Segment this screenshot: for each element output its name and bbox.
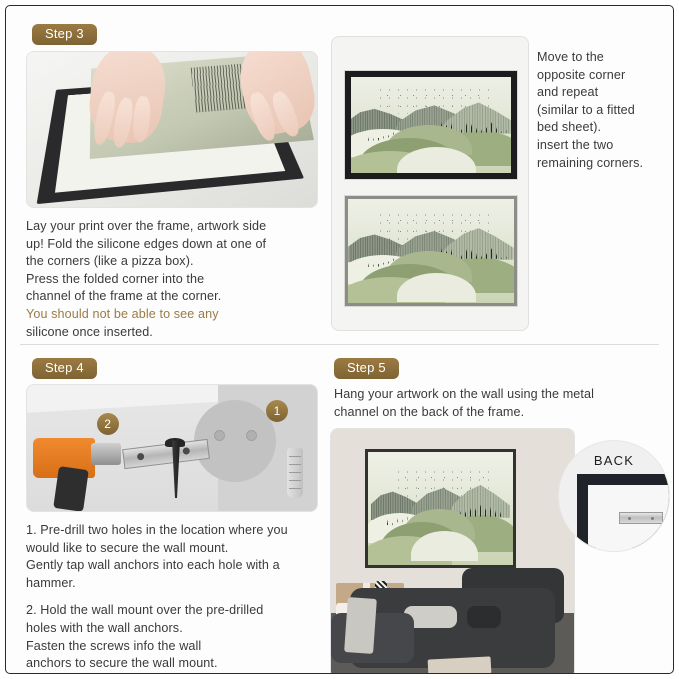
metal-channel-bracket xyxy=(619,512,663,524)
step-4-first-line-3: Gently tap wall anchors into each hole w… xyxy=(26,557,316,575)
frame-edge-draped xyxy=(345,71,517,179)
power-drill-grip xyxy=(53,466,89,512)
step-4-second-line-2: holes with the wall anchors. xyxy=(26,620,316,638)
step-5-line-1: Hang your artwork on the wall using the … xyxy=(334,386,654,404)
side-line-5: bed sheet). xyxy=(537,119,667,137)
step-3-badge-wrapper: Step 3 xyxy=(32,24,97,45)
sofa-pillow-dark xyxy=(467,606,501,628)
anchor-rib xyxy=(289,472,301,473)
step-3-highlight-line-2: silicone once inserted. xyxy=(26,324,326,342)
step-3-line-3: the corners (like a pizza box). xyxy=(26,253,326,271)
step-4-text-block: 1. Pre-drill two holes in the location w… xyxy=(26,522,316,673)
paragraph-gap xyxy=(26,592,316,602)
step-3-photo xyxy=(26,51,318,208)
step-3-text-block: Lay your print over the frame, artwork s… xyxy=(26,218,326,341)
bracket-hole xyxy=(182,447,190,455)
step-5-badge: Step 5 xyxy=(334,358,399,379)
hung-artwork xyxy=(365,449,516,569)
step-4-badge-wrapper: Step 4 xyxy=(32,358,97,379)
finger xyxy=(132,96,152,143)
channel-rivet xyxy=(628,517,631,520)
side-line-6: insert the two xyxy=(537,137,667,155)
anchor-rib xyxy=(289,464,301,465)
step-4-badge: Step 4 xyxy=(32,358,97,379)
callout-badge-1: 1 xyxy=(266,400,288,422)
landscape-artwork xyxy=(368,452,513,566)
step-3-line-1: Lay your print over the frame, artwork s… xyxy=(26,218,326,236)
step-5-section: Step 5 Hang your artwork on the wall usi… xyxy=(326,344,674,674)
channel-rivet xyxy=(651,517,654,520)
instruction-sheet: Step 3 Lay your print over the frame xyxy=(5,5,674,674)
side-line-3: and repeat xyxy=(537,84,667,102)
side-line-4: (similar to a fitted xyxy=(537,102,667,120)
step-3-side-text-block: Move to the opposite corner and repeat (… xyxy=(537,49,667,172)
frame-back-outer-edge xyxy=(577,474,669,548)
back-label: BACK xyxy=(559,453,669,468)
frame-edge-installed xyxy=(345,196,517,306)
artwork-draped-photo xyxy=(344,70,518,180)
side-line-7: remaining corners. xyxy=(537,155,667,173)
callout-badge-2: 2 xyxy=(97,413,119,435)
step-3-line-4: Press the folded corner into the xyxy=(26,271,326,289)
artwork-installed-photo xyxy=(344,195,518,307)
step-3-line-5: channel of the frame at the corner. xyxy=(26,288,326,306)
step-5-photo xyxy=(330,428,575,674)
step-4-first-line-4: hammer. xyxy=(26,575,316,593)
anchor-rib xyxy=(289,488,301,489)
step-4-photo: 1 2 xyxy=(26,384,318,512)
artwork-comparison-panel xyxy=(331,36,529,331)
step-4-second-line-4: anchors to secure the wall mount. xyxy=(26,655,316,673)
drilled-hole-right xyxy=(246,430,257,441)
drilled-hole-left xyxy=(214,430,225,441)
throw-blanket xyxy=(344,597,377,654)
step-4-first-line-2: would like to secure the wall mount. xyxy=(26,540,316,558)
step-5-line-2: channel on the back of the frame. xyxy=(334,404,654,422)
bracket-hole xyxy=(137,453,145,461)
step-3-section: Step 3 Lay your print over the frame xyxy=(6,6,674,344)
step-3-line-2: up! Fold the silicone edges down at one … xyxy=(26,236,326,254)
frame-back-inset: BACK xyxy=(558,440,670,552)
anchor-rib xyxy=(289,480,301,481)
step-4-section: Step 4 xyxy=(6,344,326,674)
step-4-first-line-1: 1. Pre-drill two holes in the location w… xyxy=(26,522,316,540)
side-line-1: Move to the xyxy=(537,49,667,67)
wall-anchor xyxy=(287,448,303,498)
drill-chuck xyxy=(91,443,121,465)
step-5-badge-wrapper: Step 5 xyxy=(334,358,399,379)
step-3-badge: Step 3 xyxy=(32,24,97,45)
magazine-on-floor xyxy=(428,656,492,674)
anchor-rib xyxy=(289,456,301,457)
side-line-2: opposite corner xyxy=(537,67,667,85)
step-4-second-line-1: 2. Hold the wall mount over the pre-dril… xyxy=(26,602,316,620)
step-5-text-block: Hang your artwork on the wall using the … xyxy=(334,386,654,421)
step-4-second-line-3: Fasten the screws info the wall xyxy=(26,638,316,656)
step-3-highlight-line-1: You should not be able to see any xyxy=(26,306,326,324)
